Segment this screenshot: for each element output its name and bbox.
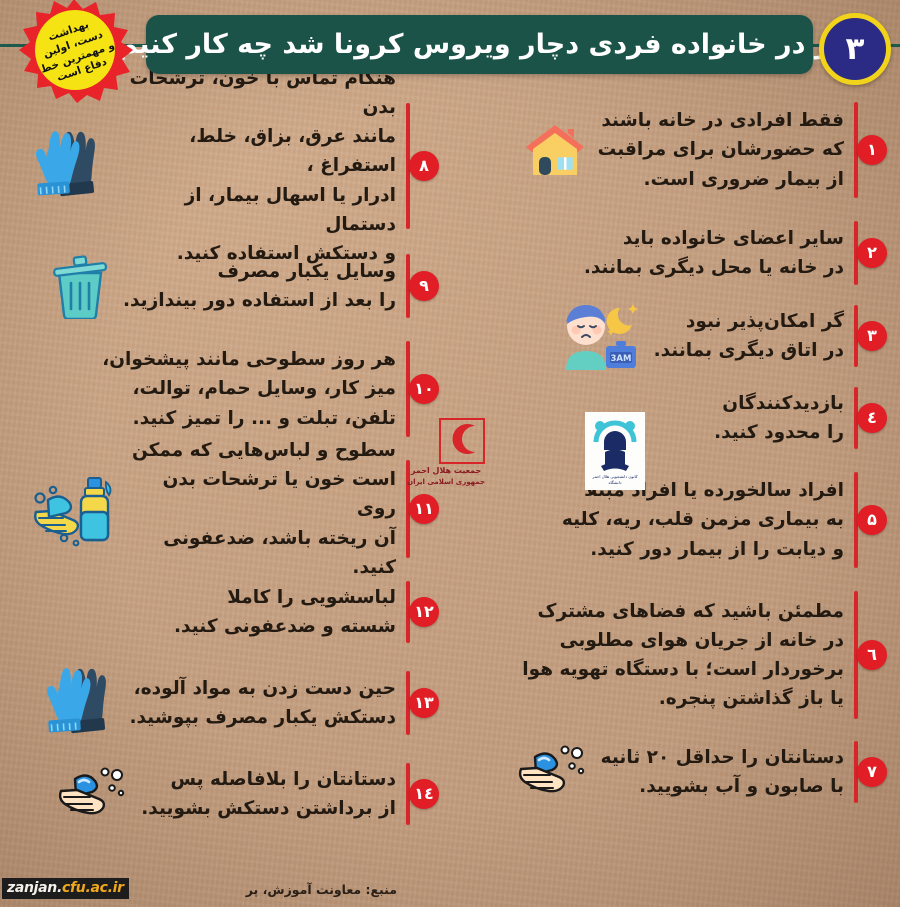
item-text: هر روز سطوحی مانند پیشخوان، میز کار، وسا… xyxy=(102,345,396,433)
gloves-icon xyxy=(39,665,121,741)
item-text: دستانتان را حداقل ۲۰ ثانیه با صابون و آب… xyxy=(601,743,844,801)
trash-bin-icon xyxy=(45,253,115,319)
item-text: فقط افرادی در خانه باشند که حضورشان برای… xyxy=(598,106,844,194)
red-crescent-icon xyxy=(439,418,485,464)
item-number-badge: ۱٤ xyxy=(409,779,439,809)
item-text: هنگام تماس با خون، ترشحات بدن مانند عرق،… xyxy=(118,64,396,269)
item-number-badge: ۱ xyxy=(857,135,887,165)
list-item: ۷ دستانتان را حداقل ۲۰ ثانیه با صابون و … xyxy=(474,730,894,814)
item-number-badge: ۷ xyxy=(857,757,887,787)
left-column: ۸ هنگام تماس با خون، ترشحات بدن مانند عر… xyxy=(26,90,446,836)
item-text: وسایل یکبار مصرف را بعد از استفاده دور ب… xyxy=(123,257,396,315)
red-crescent-logo: جمعیت هلال احمر جمهوری اسلامی ایران xyxy=(407,418,485,487)
item-number-badge: ۱۳ xyxy=(409,688,439,718)
list-item: ۲ سایر اعضای خانواده باید در خانه یا محل… xyxy=(474,210,894,296)
item-text: بازدیدکنندگان را محدود کنید. xyxy=(714,389,844,447)
list-item: ۱ فقط افرادی در خانه باشند که حضورشان بر… xyxy=(474,90,894,210)
footer: منبع: معاونت آموزش، پر zanjan.cfu.ac.ir xyxy=(0,875,900,901)
right-column: ۱ فقط افرادی در خانه باشند که حضورشان بر… xyxy=(474,90,894,814)
step-number: ۳ xyxy=(846,34,865,65)
item-text: سایر اعضای خانواده باید در خانه یا محل د… xyxy=(584,224,844,282)
list-item: ۸ هنگام تماس با خون، ترشحات بدن مانند عر… xyxy=(26,90,446,242)
list-item: ۱۲ لباسشویی را کاملا شسته و ضدعفونی کنید… xyxy=(26,570,446,654)
svg-text:کانون دانشجویی هلال احمر: کانون دانشجویی هلال احمر xyxy=(591,474,637,479)
red-crescent-caption-2: جمهوری اسلامی ایران xyxy=(407,478,485,487)
source-text: منبع: معاونت آموزش، پر xyxy=(246,882,397,897)
item-number-badge: ٦ xyxy=(857,640,887,670)
hand-hygiene-starburst-badge: بهداشت دست، اولین و مهمترین خط دفاع است xyxy=(12,0,138,104)
gloves-icon xyxy=(28,126,110,206)
item-text: لباسشویی را کاملا شسته و ضدعفونی کنید. xyxy=(174,583,396,641)
red-crescent-caption-1: جمعیت هلال احمر xyxy=(407,466,485,476)
item-number-badge: ۸ xyxy=(409,151,439,181)
student-association-logo: کانون دانشجویی هلال احمر دانشگاه xyxy=(585,412,645,494)
step-number-badge: ۳ xyxy=(819,13,891,85)
item-text: سطوح و لباس‌هایی که ممکن است خون یا ترشح… xyxy=(126,436,396,582)
sick-child-sleeping-icon: 3AM xyxy=(554,300,646,372)
list-item: ۱۳ حین دست زدن به مواد آلوده، دستکش یکبا… xyxy=(26,654,446,752)
list-item: ۱۱ سطوح و لباس‌هایی که ممکن است خون یا ت… xyxy=(26,448,446,570)
item-number-badge: ٤ xyxy=(857,403,887,433)
item-number-badge: ۹ xyxy=(409,271,439,301)
item-number-badge: ۱۱ xyxy=(409,494,439,524)
handwash-soap-icon xyxy=(55,763,133,825)
item-number-badge: ۱۰ xyxy=(409,374,439,404)
item-text: مطمئن باشید که فضاهای مشترک در خانه از ج… xyxy=(522,597,844,714)
item-number-badge: ۱۲ xyxy=(409,597,439,627)
item-number-badge: ۵ xyxy=(857,505,887,535)
student-association-icon: کانون دانشجویی هلال احمر دانشگاه xyxy=(585,412,645,490)
list-item: ۳ گر امکان‌پذیر نبود در اتاق دیگری بمانن… xyxy=(474,296,894,376)
watermark-part-a: zanjan. xyxy=(7,880,62,896)
list-item: ۱٤ دستانتان را بلافاصله پس از برداشتن دس… xyxy=(26,752,446,836)
item-number-badge: ۳ xyxy=(857,321,887,351)
list-item: ٤ بازدیدکنندگان را محدود کنید. xyxy=(474,376,894,460)
item-text: حین دست زدن به مواد آلوده، دستکش یکبار م… xyxy=(129,674,396,732)
house-icon xyxy=(520,119,590,181)
list-item: ۹ وسایل یکبار مصرف را بعد از استفاده دور… xyxy=(26,242,446,330)
disinfectant-spray-hand-icon xyxy=(28,468,118,550)
page-title-bar: اگر در خانواده فردی دچار ویروس کرونا شد … xyxy=(146,15,813,74)
svg-text:دانشگاه: دانشگاه xyxy=(608,480,621,485)
handwash-soap-icon xyxy=(515,741,593,803)
list-item: ٦ مطمئن باشید که فضاهای مشترک در خانه از… xyxy=(474,580,894,730)
item-text: دستانتان را بلافاصله پس از برداشتن دستکش… xyxy=(141,765,396,823)
item-number-badge: ۲ xyxy=(857,238,887,268)
item-text: گر امکان‌پذیر نبود در اتاق دیگری بمانند. xyxy=(654,307,844,365)
svg-text:3AM: 3AM xyxy=(610,354,631,364)
list-item: ۵ افراد سالخورده یا افراد مبتلا به بیمار… xyxy=(474,460,894,580)
site-watermark: zanjan.cfu.ac.ir xyxy=(2,878,129,899)
watermark-part-b: cfu.ac.ir xyxy=(62,880,124,896)
page-title: اگر در خانواده فردی دچار ویروس کرونا شد … xyxy=(102,29,856,60)
list-item: ۱۰ هر روز سطوحی مانند پیشخوان، میز کار، … xyxy=(26,330,446,448)
